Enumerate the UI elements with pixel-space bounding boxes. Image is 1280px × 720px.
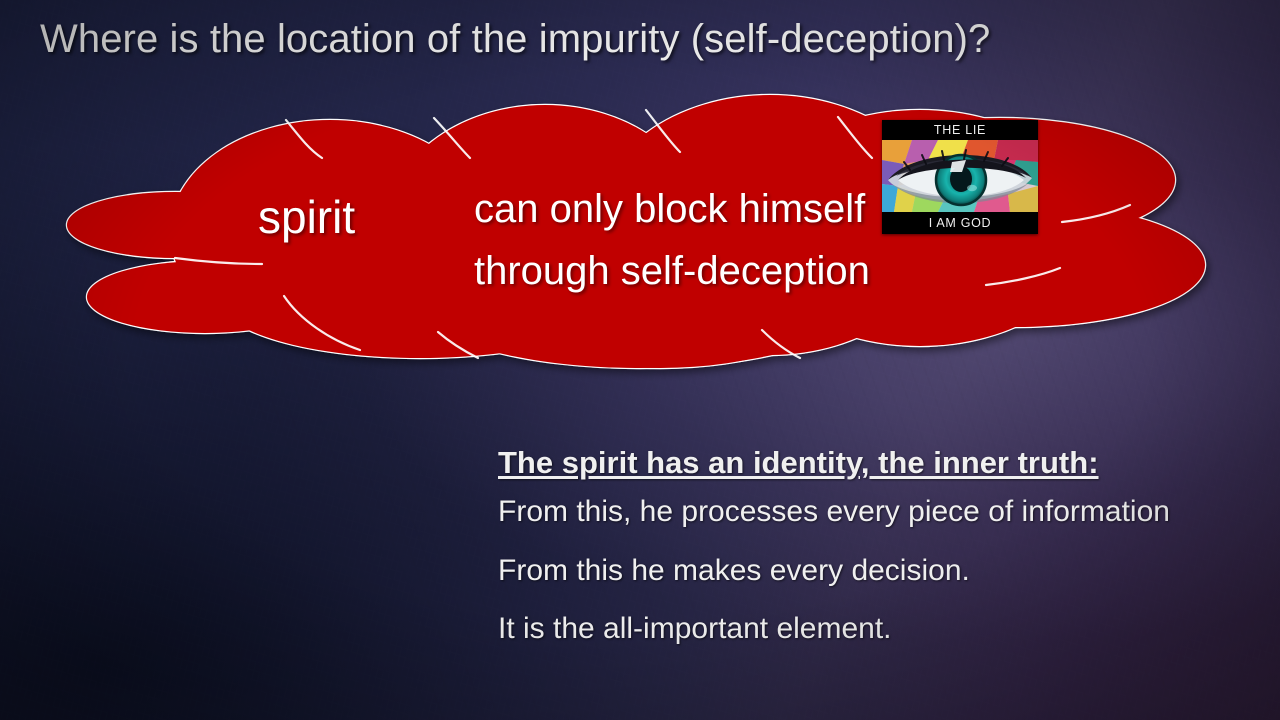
body-line-3: It is the all-important element.: [498, 600, 1258, 659]
slide-canvas: Where is the location of the impurity (s…: [0, 0, 1280, 720]
body-heading: The spirit has an identity, the inner tr…: [498, 443, 1258, 483]
slide-title: Where is the location of the impurity (s…: [40, 18, 990, 61]
body-line-1: From this, he processes every piece of i…: [498, 483, 1258, 542]
meme-top-caption: THE LIE: [882, 120, 1038, 140]
colorful-eye-icon: [882, 140, 1038, 212]
body-text-block: The spirit has an identity, the inner tr…: [498, 443, 1258, 659]
meme-bottom-caption: I AM GOD: [882, 212, 1038, 234]
body-line-2: From this he makes every decision.: [498, 542, 1258, 601]
cloud-word-spirit: spirit: [258, 192, 355, 243]
cloud-phrase-text: can only block himself through self-dece…: [474, 178, 870, 303]
the-lie-meme-image: THE LIE: [882, 120, 1038, 234]
